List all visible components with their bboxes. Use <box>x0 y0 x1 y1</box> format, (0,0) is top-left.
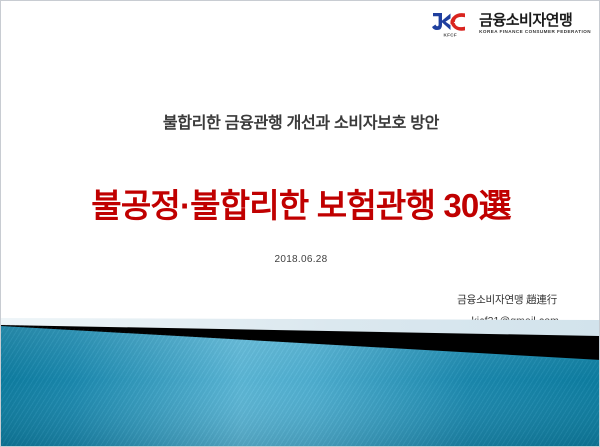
kfcf-logo-text: 금융소비자연맹 KOREA FINANCE CONSUMER FEDERATIO… <box>479 13 591 35</box>
kfcf-logo: KFCF 금융소비자연맹 KOREA FINANCE CONSUMER FEDE… <box>429 9 591 39</box>
svg-text:KFCF: KFCF <box>444 33 457 38</box>
slide-main-title: 불공정·불합리한 보험관행 30選 <box>1 179 600 227</box>
kfcf-logo-english-name: KOREA FINANCE CONSUMER FEDERATION <box>479 30 591 35</box>
presenter-name: 금융소비자연맹 趙連行 <box>457 292 557 307</box>
kfcf-logo-mark-icon: KFCF <box>429 9 473 39</box>
slide-decoration-bands <box>1 316 600 446</box>
presentation-slide: KFCF 금융소비자연맹 KOREA FINANCE CONSUMER FEDE… <box>0 0 600 447</box>
slide-date: 2018.06.28 <box>1 254 600 265</box>
kfcf-logo-korean-name: 금융소비자연맹 <box>479 13 591 28</box>
slide-subtitle: 불합리한 금융관행 개선과 소비자보호 방안 <box>1 109 600 133</box>
